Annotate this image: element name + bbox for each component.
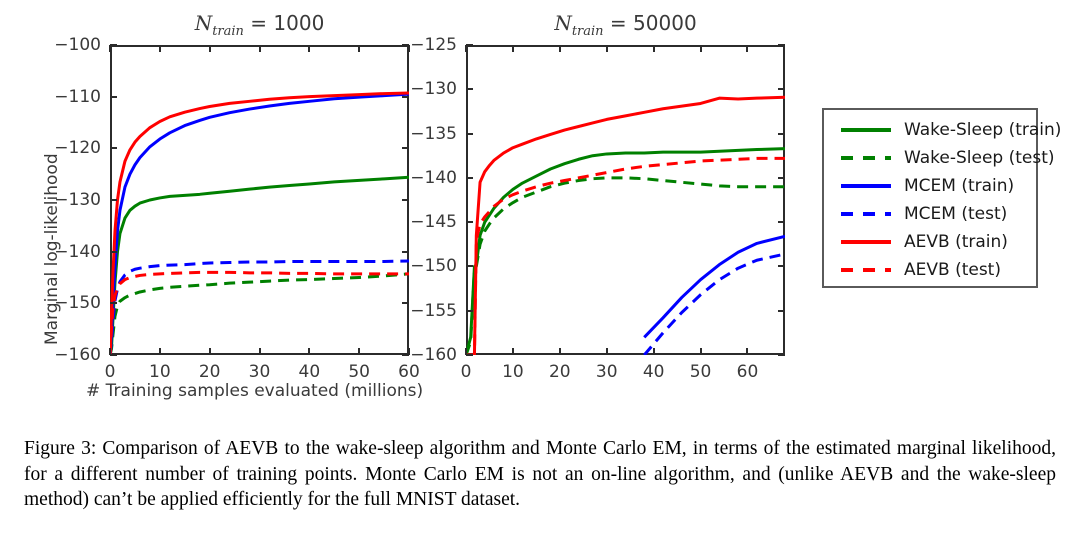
x-tick-mark (559, 348, 561, 355)
x-tick-mark (746, 348, 748, 355)
legend-item-aevb-test[interactable]: AEVB (test) (824, 256, 1036, 284)
y-tick-mark (466, 44, 473, 46)
x-tick-mark (465, 45, 467, 52)
y-tick-label: −125 (410, 35, 466, 55)
panel-right-title: Ntrain = 50000 (466, 11, 785, 39)
legend-swatch-wake-sleep-test (840, 144, 892, 172)
panel-left-title-equals: = (250, 11, 267, 35)
y-tick-label: −145 (410, 212, 466, 232)
y-tick-mark (466, 265, 473, 267)
x-tick-label: 60 (737, 355, 759, 382)
y-tick-mark (402, 251, 409, 253)
panel-left-title-value: 1000 (273, 11, 324, 35)
x-tick-mark (358, 348, 360, 355)
y-tick-mark (466, 310, 473, 312)
y-tick-label: −150 (410, 256, 466, 276)
legend-label-mcem-train: MCEM (train) (904, 176, 1014, 196)
legend-label-mcem-test: MCEM (test) (904, 204, 1007, 224)
x-tick-label: 20 (549, 355, 571, 382)
panel-right-title-equals: = (610, 11, 627, 35)
x-tick-mark (109, 348, 111, 355)
series-line (644, 236, 785, 337)
series-line (466, 97, 785, 355)
x-tick-label: 40 (299, 355, 321, 382)
panel-right-title-value: 50000 (633, 11, 697, 35)
y-tick-label: −130 (410, 79, 466, 99)
y-axis-label-left: Marginal log-likelihood (42, 153, 62, 345)
x-tick-mark (512, 348, 514, 355)
x-tick-mark (653, 45, 655, 52)
x-tick-mark (700, 348, 702, 355)
x-tick-mark (606, 348, 608, 355)
y-tick-mark (402, 199, 409, 201)
x-tick-label: 30 (249, 355, 271, 382)
series-line (466, 178, 785, 355)
x-tick-mark (259, 45, 261, 52)
y-tick-label: −140 (54, 242, 110, 262)
x-tick-mark (358, 45, 360, 52)
x-tick-mark (109, 45, 111, 52)
y-tick-label: −120 (54, 138, 110, 158)
x-tick-label: 40 (643, 355, 665, 382)
y-tick-mark (466, 133, 473, 135)
y-tick-mark (110, 44, 117, 46)
panel-left-title: Ntrain = 1000 (110, 11, 409, 39)
y-tick-label: −130 (54, 190, 110, 210)
y-tick-mark (778, 310, 785, 312)
y-tick-mark (778, 265, 785, 267)
x-tick-mark (700, 45, 702, 52)
x-tick-mark (559, 45, 561, 52)
x-tick-label: 50 (348, 355, 370, 382)
y-tick-mark (778, 221, 785, 223)
y-tick-mark (466, 88, 473, 90)
x-tick-label: 0 (461, 355, 472, 382)
x-axis-label-left: # Training samples evaluated (millions) (86, 381, 423, 401)
x-tick-mark (259, 348, 261, 355)
plot-lines-right (466, 45, 785, 355)
figure-caption: Figure 3: Comparison of AEVB to the wake… (24, 436, 1056, 513)
series-line (110, 274, 409, 355)
x-tick-label: 10 (149, 355, 171, 382)
legend-item-wake-sleep-test[interactable]: Wake-Sleep (test) (824, 144, 1036, 172)
panel-right-title-subscript: train (572, 24, 604, 39)
x-tick-mark (209, 348, 211, 355)
legend-swatch-wake-sleep-train (840, 116, 892, 144)
legend: Wake-Sleep (train)Wake-Sleep (test)MCEM … (822, 108, 1038, 288)
legend-item-wake-sleep-train[interactable]: Wake-Sleep (train) (824, 116, 1036, 144)
plot-lines-left (110, 45, 409, 355)
series-line (110, 94, 409, 355)
series-line (110, 272, 409, 355)
y-tick-mark (402, 302, 409, 304)
y-tick-mark (466, 221, 473, 223)
x-tick-mark (209, 45, 211, 52)
x-tick-mark (606, 45, 608, 52)
y-tick-label: −160 (54, 345, 110, 365)
x-tick-label: 10 (502, 355, 524, 382)
y-tick-label: −110 (54, 87, 110, 107)
legend-swatch-aevb-train (840, 228, 892, 256)
x-tick-label: 30 (596, 355, 618, 382)
y-tick-mark (778, 88, 785, 90)
x-tick-label: 50 (690, 355, 712, 382)
y-tick-mark (466, 177, 473, 179)
y-tick-mark (778, 177, 785, 179)
y-tick-label: −155 (410, 301, 466, 321)
legend-swatch-mcem-train (840, 172, 892, 200)
legend-label-wake-sleep-train: Wake-Sleep (train) (904, 120, 1061, 140)
y-tick-mark (110, 96, 117, 98)
legend-label-aevb-test: AEVB (test) (904, 260, 1001, 280)
y-tick-label: −150 (54, 293, 110, 313)
y-tick-mark (110, 147, 117, 149)
x-tick-mark (159, 348, 161, 355)
y-tick-mark (778, 44, 785, 46)
x-tick-mark (746, 45, 748, 52)
y-tick-mark (402, 147, 409, 149)
legend-label-aevb-train: AEVB (train) (904, 232, 1008, 252)
y-tick-label: −140 (410, 168, 466, 188)
y-tick-mark (778, 133, 785, 135)
x-tick-label: 20 (199, 355, 221, 382)
legend-item-aevb-train[interactable]: AEVB (train) (824, 228, 1036, 256)
x-tick-mark (308, 348, 310, 355)
x-tick-mark (512, 45, 514, 52)
y-tick-mark (110, 199, 117, 201)
chart-panel-right: Ntrain = 50000 −160−155−150−145−140−135−… (466, 45, 785, 355)
x-tick-mark (159, 45, 161, 52)
y-tick-mark (110, 251, 117, 253)
y-tick-label: −135 (410, 124, 466, 144)
chart-panel-left: Ntrain = 1000 −160−150−140−130−120−110−1… (110, 45, 409, 355)
legend-swatch-mcem-test (840, 200, 892, 228)
y-tick-mark (402, 96, 409, 98)
panel-left-title-subscript: train (212, 24, 244, 39)
legend-swatch-aevb-test (840, 256, 892, 284)
legend-label-wake-sleep-test: Wake-Sleep (test) (904, 148, 1055, 168)
legend-item-mcem-test[interactable]: MCEM (test) (824, 200, 1036, 228)
y-tick-mark (778, 354, 785, 356)
y-tick-label: −160 (410, 345, 466, 365)
y-tick-mark (110, 302, 117, 304)
x-tick-mark (465, 348, 467, 355)
x-tick-mark (308, 45, 310, 52)
figure-3: Ntrain = 1000 −160−150−140−130−120−110−1… (0, 0, 1080, 556)
y-tick-label: −100 (54, 35, 110, 55)
legend-item-mcem-train[interactable]: MCEM (train) (824, 172, 1036, 200)
series-line (110, 93, 409, 355)
x-tick-label: 0 (105, 355, 116, 382)
x-tick-mark (653, 348, 655, 355)
